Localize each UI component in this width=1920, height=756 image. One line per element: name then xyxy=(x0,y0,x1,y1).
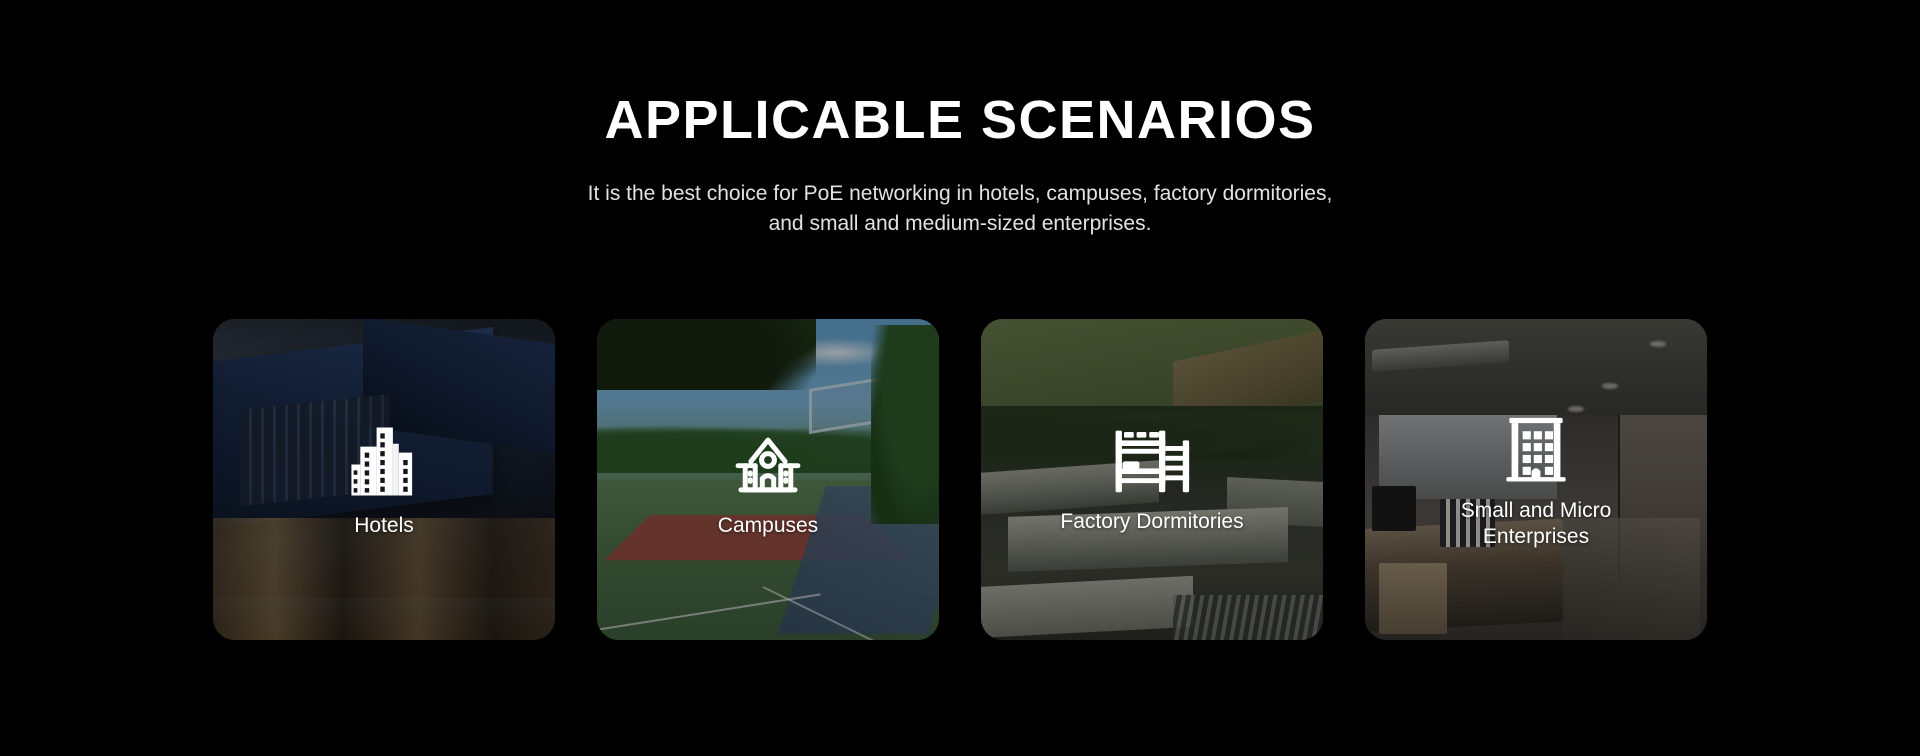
scenario-card-list: Hotels xyxy=(0,319,1920,640)
office-building-icon xyxy=(1499,410,1573,488)
school-building-icon xyxy=(731,421,805,499)
section-header: APPLICABLE SCENARIOS It is the best choi… xyxy=(0,0,1920,240)
scenario-card-campuses[interactable]: Campuses xyxy=(597,319,939,640)
scenario-card-small-and-micro-enterprises[interactable]: Small and Micro Enterprises xyxy=(1365,319,1707,640)
page-title: APPLICABLE SCENARIOS xyxy=(0,92,1920,149)
applicable-scenarios-section: APPLICABLE SCENARIOS It is the best choi… xyxy=(0,0,1920,756)
card-label: Campuses xyxy=(718,513,818,538)
city-buildings-icon xyxy=(347,421,421,499)
subtitle-line-1: It is the best choice for PoE networking… xyxy=(0,179,1920,209)
bunk-bed-icon xyxy=(1110,425,1194,495)
card-label: Small and Micro Enterprises xyxy=(1461,498,1612,548)
section-subtitle: It is the best choice for PoE networking… xyxy=(0,179,1920,240)
scenario-card-factory-dormitories[interactable]: Factory Dormitories xyxy=(981,319,1323,640)
scenario-card-hotels[interactable]: Hotels xyxy=(213,319,555,640)
card-label: Factory Dormitories xyxy=(1060,509,1243,534)
card-label-line-2: Enterprises xyxy=(1483,525,1589,548)
subtitle-line-2: and small and medium-sized enterprises. xyxy=(0,209,1920,239)
card-label-line-1: Small and Micro xyxy=(1461,499,1612,522)
card-label: Hotels xyxy=(354,513,414,538)
